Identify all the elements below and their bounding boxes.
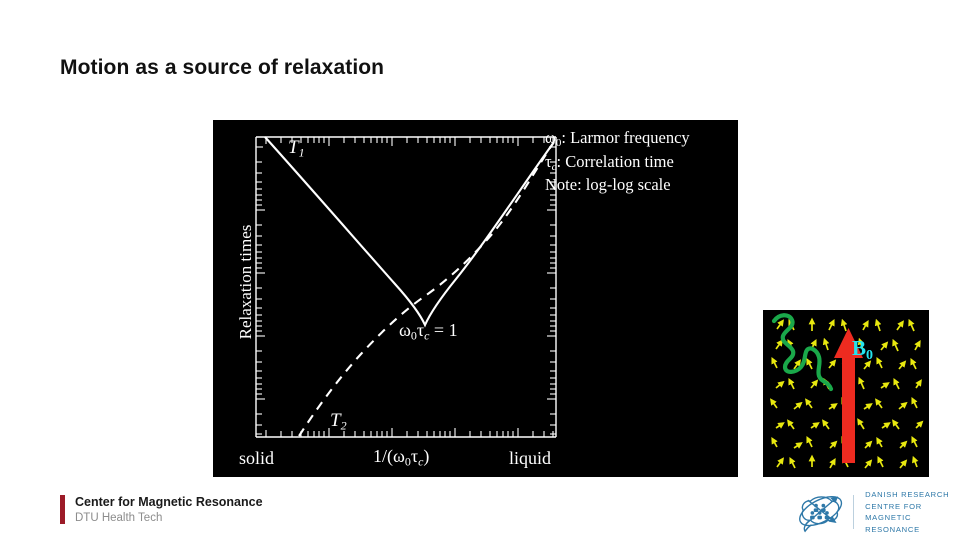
tau-symbol: τ <box>545 152 552 171</box>
x-axis-label-solid: solid <box>239 448 274 469</box>
x-axis-label-liquid: liquid <box>509 448 551 469</box>
drcmr-logo-mark <box>795 489 846 535</box>
annot-omega: ω <box>399 320 411 340</box>
x-mid-prefix: 1/( <box>373 446 393 466</box>
logo-text: DANISH RESEARCH CENTRE FOR MAGNETIC RESO… <box>865 489 960 535</box>
t2-letter: T <box>330 410 341 431</box>
omega-symbol: ω <box>545 128 556 147</box>
legend-line-larmor: ω0: Larmor frequency <box>545 127 690 151</box>
x-mid-omega: ω <box>393 446 405 466</box>
logo-line-2: CENTRE FOR <box>865 501 960 513</box>
t1-curve-label: T1 <box>288 137 305 160</box>
t1-letter: T <box>288 137 299 158</box>
drcmr-logo: DANISH RESEARCH CENTRE FOR MAGNETIC RESO… <box>795 489 960 535</box>
logo-line-1: DANISH RESEARCH <box>865 489 960 501</box>
brand-line-2: DTU Health Tech <box>75 511 263 525</box>
brand-accent-bar <box>60 495 65 524</box>
t2-curve <box>299 142 554 436</box>
molecular-trajectory <box>774 315 831 389</box>
b0-field-svg <box>763 310 929 477</box>
t1-subscript: 1 <box>299 145 305 159</box>
annot-equals-one: = 1 <box>429 320 457 340</box>
x-axis-ticks <box>266 137 553 437</box>
chart-inner: ω0: Larmor frequency τc: Correlation tim… <box>213 120 738 477</box>
larmor-text: : Larmor frequency <box>561 128 689 147</box>
relaxation-chart-panel: ω0: Larmor frequency τc: Correlation tim… <box>213 120 738 477</box>
brand-line-1: Center for Magnetic Resonance <box>75 495 263 511</box>
x-mid-tau: τ <box>411 446 418 466</box>
branding: Center for Magnetic Resonance DTU Health… <box>60 495 263 525</box>
omega-tau-annotation: ω0τc = 1 <box>399 320 458 343</box>
y-axis-ticks <box>256 147 556 434</box>
chart-legend: ω0: Larmor frequency τc: Correlation tim… <box>545 127 690 196</box>
b0-field-panel: B0 <box>763 310 929 477</box>
page-title: Motion as a source of relaxation <box>60 56 384 80</box>
x-mid-suffix: ) <box>423 446 429 466</box>
logo-divider <box>853 495 854 529</box>
b0-field-label: B0 <box>852 336 873 364</box>
t1-curve <box>265 137 554 325</box>
y-axis-label: Relaxation times <box>236 187 256 377</box>
legend-line-correlation: τc: Correlation time <box>545 151 690 175</box>
logo-line-3: MAGNETIC RESONANCE <box>865 512 960 535</box>
t2-curve-label: T2 <box>330 410 347 433</box>
x-axis-label-center: 1/(ω0τc) <box>373 446 429 469</box>
b0-subscript: 0 <box>866 348 873 363</box>
annot-tau: τ <box>417 320 424 340</box>
t2-subscript: 2 <box>341 418 347 432</box>
plot-frame <box>256 137 556 437</box>
correlation-text: : Correlation time <box>557 152 674 171</box>
legend-line-note: Note: log-log scale <box>545 174 690 196</box>
brand-text: Center for Magnetic Resonance DTU Health… <box>75 495 263 525</box>
b0-letter: B <box>852 336 866 360</box>
